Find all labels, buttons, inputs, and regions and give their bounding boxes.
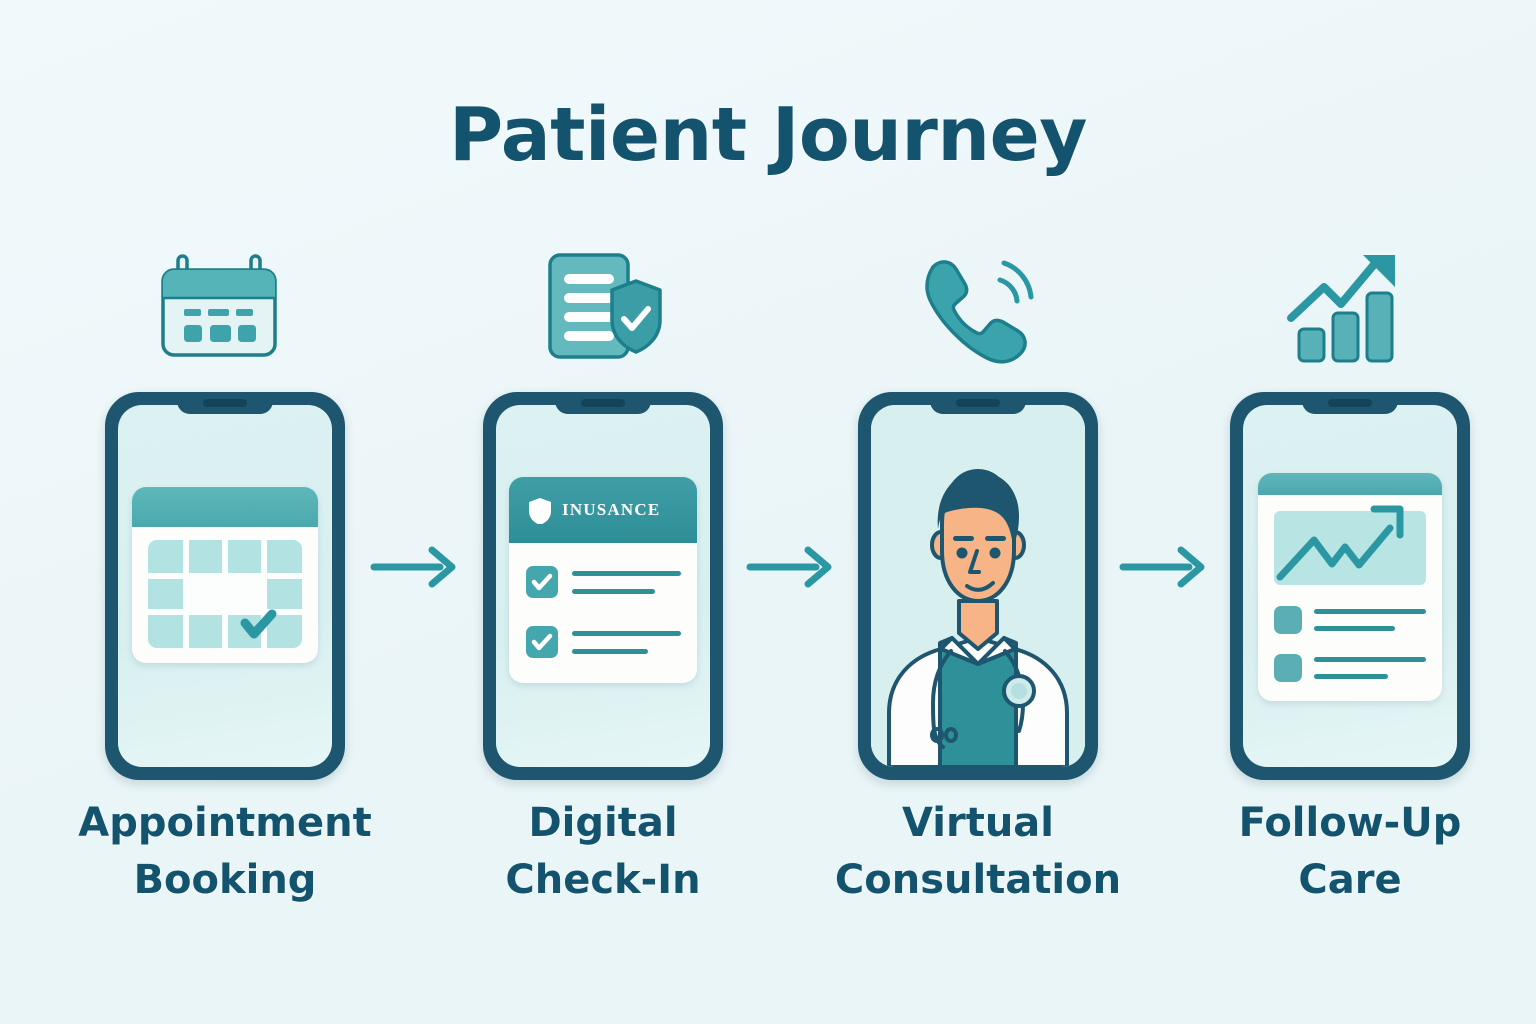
calendar-icon	[150, 243, 300, 373]
text-line	[1314, 609, 1426, 614]
phone-screen-followup	[1243, 405, 1457, 767]
phone-call-icon-slot	[808, 238, 1148, 378]
text-line	[572, 649, 648, 654]
caption-line-2: Care	[1180, 852, 1520, 909]
step-appointment-booking: Appointment Booking	[55, 0, 395, 1024]
caption-line-1: Follow-Up	[1180, 795, 1520, 852]
text-line	[572, 571, 681, 576]
result-list-item[interactable]	[1274, 606, 1426, 634]
step-caption-virtual-consultation: Virtual Consultation	[808, 795, 1148, 909]
arrow-right-icon	[744, 540, 840, 594]
phone-speaker	[203, 399, 247, 407]
insurance-card-header: INUSANCE	[509, 477, 697, 543]
phone-mockup-followup	[1230, 392, 1470, 780]
phone-screen-checkin: INUSANCE	[496, 405, 710, 767]
step-caption-digital-check-in: Digital Check-In	[433, 795, 773, 909]
phone-mockup-consultation	[858, 392, 1098, 780]
document-shield-icon-slot	[433, 238, 773, 378]
calendar-grid	[132, 527, 318, 663]
calendar-card-header	[132, 487, 318, 527]
text-line	[1314, 626, 1395, 631]
text-line	[572, 631, 681, 636]
insurance-form-card[interactable]: INUSANCE	[509, 477, 697, 683]
caption-line-1: Digital	[433, 795, 773, 852]
doctor-video-illustration	[871, 405, 1085, 767]
calendar-icon-slot	[55, 238, 395, 378]
phone-speaker	[956, 399, 1000, 407]
phone-speaker	[581, 399, 625, 407]
phone-speaker	[1328, 399, 1372, 407]
text-line	[572, 589, 655, 594]
checkbox-checked-icon[interactable]	[525, 625, 559, 659]
list-item-swatch	[1274, 606, 1302, 634]
bar-chart-growth-icon-slot	[1180, 238, 1520, 378]
text-line	[1314, 674, 1388, 679]
text-line	[1314, 657, 1426, 662]
phone-mockup-checkin: INUSANCE	[483, 392, 723, 780]
checkbox-checked-icon[interactable]	[525, 565, 559, 599]
step-caption-appointment-booking: Appointment Booking	[55, 795, 395, 909]
list-item-swatch	[1274, 654, 1302, 682]
step-digital-check-in: INUSANCE	[433, 0, 773, 1024]
caption-line-2: Check-In	[433, 852, 773, 909]
connector-arrow-1	[368, 540, 464, 594]
infographic-canvas: Patient Journey	[0, 0, 1536, 1024]
insurance-card-title: INUSANCE	[562, 500, 660, 520]
document-shield-icon	[528, 243, 678, 373]
calendar-card[interactable]	[132, 487, 318, 663]
connector-arrow-3	[1117, 540, 1213, 594]
trend-chart	[1258, 495, 1442, 595]
checklist-row[interactable]	[525, 565, 681, 599]
arrow-right-icon	[1117, 540, 1213, 594]
shield-icon	[527, 496, 553, 524]
caption-line-1: Virtual	[808, 795, 1148, 852]
step-virtual-consultation: Virtual Consultation	[808, 0, 1148, 1024]
results-card[interactable]	[1258, 473, 1442, 701]
caption-line-2: Booking	[55, 852, 395, 909]
step-caption-follow-up-care: Follow-Up Care	[1180, 795, 1520, 909]
result-list-item[interactable]	[1274, 654, 1426, 682]
phone-screen-consultation	[871, 405, 1085, 767]
checklist-row[interactable]	[525, 625, 681, 659]
caption-line-1: Appointment	[55, 795, 395, 852]
results-card-header	[1258, 473, 1442, 495]
phone-screen-booking	[118, 405, 332, 767]
bar-chart-growth-icon	[1275, 243, 1425, 373]
connector-arrow-2	[744, 540, 840, 594]
step-follow-up-care: Follow-Up Care	[1180, 0, 1520, 1024]
caption-line-2: Consultation	[808, 852, 1148, 909]
phone-call-icon	[903, 243, 1053, 373]
phone-mockup-booking	[105, 392, 345, 780]
arrow-right-icon	[368, 540, 464, 594]
